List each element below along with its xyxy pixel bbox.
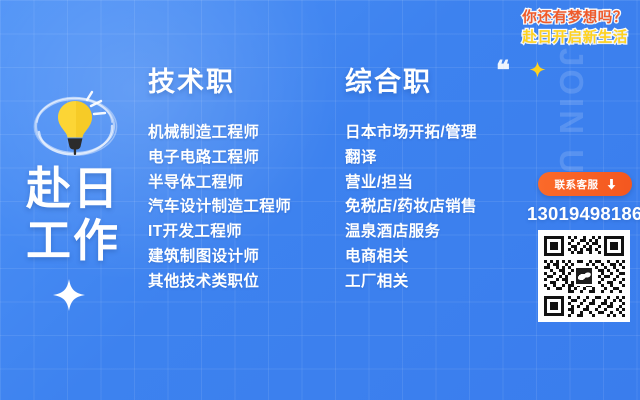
- list-item: 工厂相关: [345, 270, 477, 295]
- list-item: 其他技术类职位: [148, 270, 291, 295]
- join-us-watermark: JOIN U: [551, 48, 591, 178]
- list-item: 建筑制图设计师: [148, 245, 291, 270]
- qr-code-icon[interactable]: [538, 230, 630, 322]
- slogan-block: 你还有梦想吗？ 赴日开启新生活: [522, 8, 628, 48]
- list-item: 汽车设计制造工程师: [148, 195, 291, 220]
- sparkle-icon: [52, 278, 86, 312]
- arrow-down-icon: [607, 179, 616, 190]
- brand-title-line-1: 赴日: [26, 163, 136, 215]
- page-title: 赴日 工作: [26, 163, 136, 267]
- brand-title-line-2: 工作: [26, 215, 136, 267]
- job-list-general: 日本市场开拓/管理 翻译 营业/担当 免税店/药妆店销售 温泉酒店服务 电商相关…: [345, 121, 477, 295]
- slogan-line-2: 赴日开启新生活: [522, 28, 628, 48]
- list-item: 机械制造工程师: [148, 121, 291, 146]
- column-heading-general: 综合职: [345, 60, 477, 99]
- list-item: 温泉酒店服务: [345, 220, 477, 245]
- lightbulb-icon: [25, 82, 125, 168]
- list-item: 翻译: [345, 146, 477, 171]
- quote-mark-icon: ❝: [496, 58, 510, 84]
- job-list-technical: 机械制造工程师 电子电路工程师 半导体工程师 汽车设计制造工程师 IT开发工程师…: [148, 121, 291, 295]
- slogan-line-1: 你还有梦想吗？: [522, 8, 628, 28]
- list-item: 营业/担当: [345, 171, 477, 196]
- list-item: 半导体工程师: [148, 171, 291, 196]
- list-item: 电商相关: [345, 245, 477, 270]
- column-heading-technical: 技术职: [148, 60, 291, 99]
- contact-support-label: 联系客服: [555, 177, 599, 192]
- list-item: 免税店/药妆店销售: [345, 195, 477, 220]
- contact-support-button[interactable]: 联系客服: [538, 172, 632, 196]
- list-item: 日本市场开拓/管理: [345, 121, 477, 146]
- job-column-technical: 技术职 机械制造工程师 电子电路工程师 半导体工程师 汽车设计制造工程师 IT开…: [148, 60, 291, 295]
- list-item: IT开发工程师: [148, 220, 291, 245]
- sparkle-icon: [529, 61, 546, 78]
- job-column-general: 综合职 日本市场开拓/管理 翻译 营业/担当 免税店/药妆店销售 温泉酒店服务 …: [345, 60, 477, 295]
- brand-block: 赴日 工作: [0, 0, 140, 400]
- phone-number: 13019498186: [527, 203, 635, 225]
- recruitment-banner: JOIN U: [0, 0, 640, 400]
- list-item: 电子电路工程师: [148, 146, 291, 171]
